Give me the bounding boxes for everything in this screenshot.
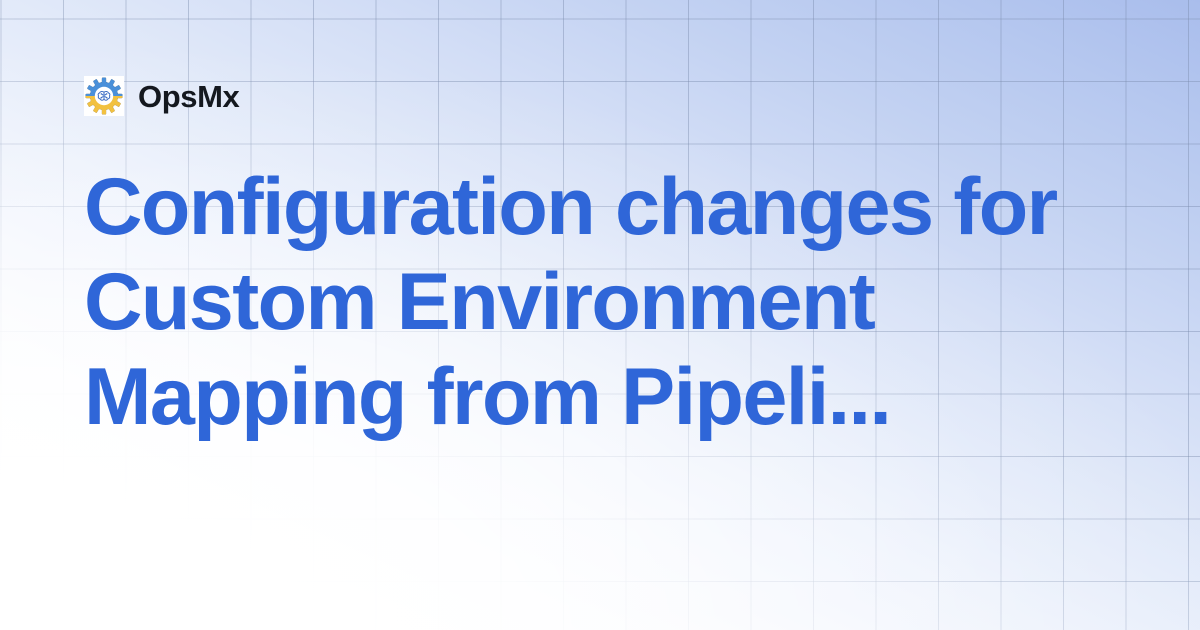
card-content: OpsMx Configuration changes for Custom E… bbox=[0, 0, 1200, 630]
opsmx-gear-brain-logo-icon bbox=[84, 76, 124, 116]
page-title: Configuration changes for Custom Environ… bbox=[84, 160, 1094, 445]
og-card: OpsMx Configuration changes for Custom E… bbox=[0, 0, 1200, 630]
brand-name: OpsMx bbox=[138, 81, 239, 112]
brand-lockup: OpsMx bbox=[84, 74, 1120, 118]
